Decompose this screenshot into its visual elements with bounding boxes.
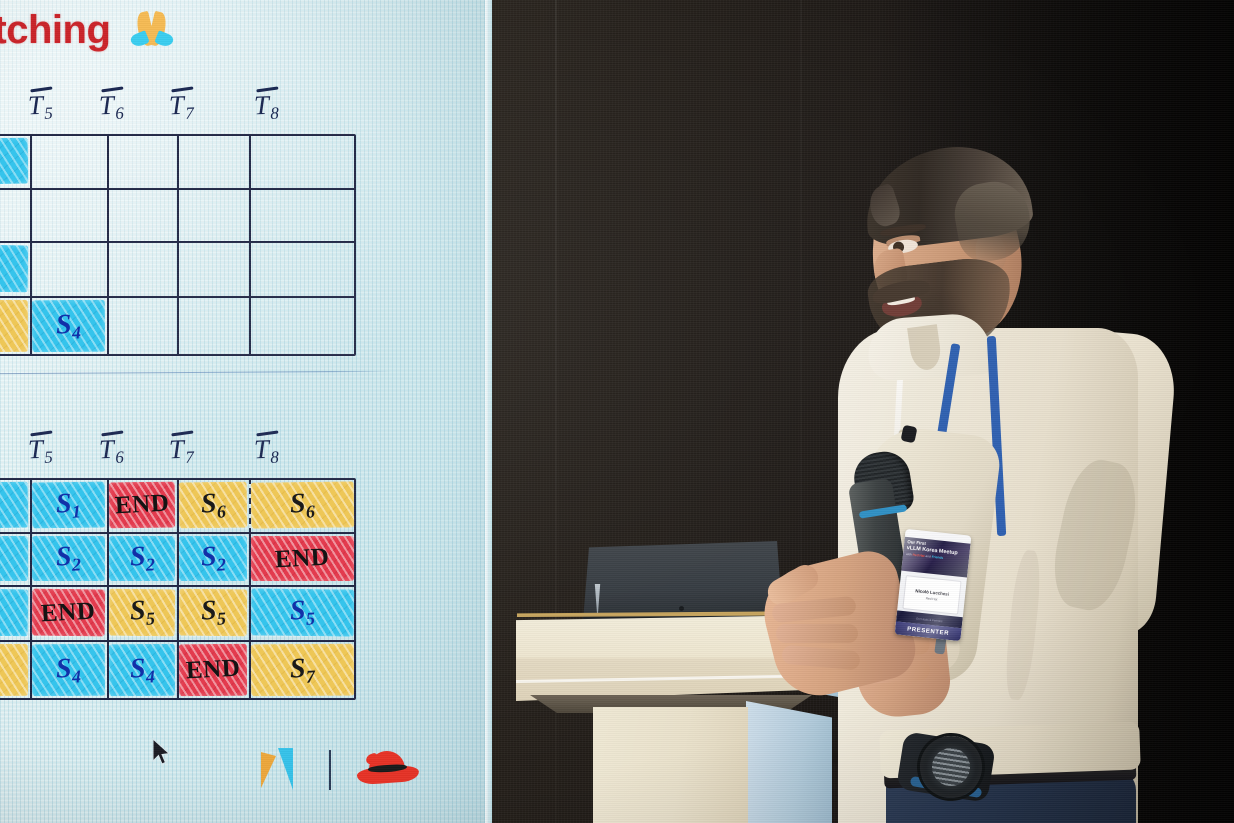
lower-cell-T7-r2[interactable]: S2 — [177, 532, 249, 585]
lower-cell-T8-r3[interactable]: S5 — [249, 585, 356, 640]
lower-cell-label: END — [185, 655, 241, 686]
lower-cell-T4-r1[interactable]: S1 — [0, 478, 30, 532]
blue-marker-fill — [0, 536, 28, 581]
lower-cell-T5-r2[interactable]: S2 — [30, 532, 107, 585]
badge-name: Nicolò Lucchesi — [915, 588, 949, 596]
lower-cell-T8-r2[interactable]: END — [249, 532, 356, 585]
laptop-hinge-dot — [679, 606, 684, 611]
lower-cell-T8-r4[interactable]: S7 — [249, 640, 356, 700]
lower-cell-T5-r3[interactable]: END — [30, 585, 107, 640]
badge-sponsors-label: Our Hosts & Partners — [916, 616, 943, 623]
lower-cell-T6-r4[interactable]: S4 — [107, 640, 177, 700]
podium-stem — [593, 707, 748, 823]
yellow-marker-fill — [0, 644, 28, 696]
badge-name-card: Nicolò Lucchesi Red Hat — [902, 575, 961, 615]
upper-cell-T4-r4[interactable]: S4 — [0, 296, 30, 356]
upper-cell-T4-r1[interactable]: S1 — [0, 134, 30, 188]
lower-cell-label: END — [41, 597, 97, 628]
lower-cell-label: S5 — [200, 594, 226, 630]
blue-marker-fill — [0, 589, 28, 637]
yellow-marker-fill — [0, 300, 28, 352]
blue-marker-fill — [0, 138, 28, 185]
lower-cell-label: END — [114, 490, 170, 521]
lower-cell-T6-r3[interactable]: S5 — [107, 585, 177, 640]
screen-right-edge — [485, 0, 492, 823]
lower-cell-label: S5 — [129, 594, 155, 630]
lower-cell-label: S5 — [289, 594, 315, 630]
presenter-badge[interactable]: Our First vLLM Korea Meetup with Red Hat… — [895, 529, 972, 641]
lower-cell-T4-r4[interactable]: S4 — [0, 640, 30, 700]
lower-cell-T7-r3[interactable]: S5 — [177, 585, 249, 640]
lower-cell-label: S2 — [200, 540, 226, 576]
watch-dial — [929, 745, 972, 788]
upper-cell-T5-r4[interactable]: S4 — [30, 296, 107, 356]
lower-cell-label: END — [275, 543, 331, 574]
blue-marker-fill — [0, 245, 28, 293]
lower-cell-T8-r1[interactable]: S6 — [249, 478, 356, 532]
blue-marker-fill — [0, 482, 28, 529]
badge-header: Our First vLLM Korea Meetup with Red Hat… — [901, 537, 970, 578]
lower-cell-T5-r4[interactable]: S4 — [30, 640, 107, 700]
finger — [776, 624, 858, 643]
lower-cell-T4-r3[interactable]: S3 — [0, 585, 30, 640]
lower-cell-label: S4 — [129, 652, 155, 688]
lower-cell-T5-r1[interactable]: S1 — [30, 478, 107, 532]
lower-cell-label: S2 — [55, 540, 81, 576]
lower-cell-T7-r1[interactable]: S6 — [177, 478, 249, 532]
screenshot-stage: ative Batching T4 T5 T6 T7 T8 S1S3S4S4 — [0, 0, 1234, 823]
lower-cell-T4-r2[interactable]: S2 — [0, 532, 30, 585]
lower-cell-T7-r4[interactable]: END — [177, 640, 249, 700]
upper-cell-T4-r3[interactable]: S3 — [0, 241, 30, 296]
laptop-lid[interactable] — [583, 541, 783, 621]
lower-cell-label: S1 — [55, 487, 81, 523]
lower-cell-label: S2 — [129, 540, 155, 576]
lower-cell-label: S7 — [289, 652, 315, 688]
lower-cell-T6-r2[interactable]: S2 — [107, 532, 177, 585]
badge-organization: Red Hat — [926, 596, 938, 601]
screen-vignette — [0, 0, 492, 823]
projection-screen[interactable]: ative Batching T4 T5 T6 T7 T8 S1S3S4S4 — [0, 0, 492, 823]
presenter: Our First vLLM Korea Meetup with Red Hat… — [760, 130, 1230, 823]
lower-cell-label: S4 — [55, 652, 81, 688]
upper-cell-label: S4 — [55, 308, 81, 344]
lower-cell-label: S6 — [200, 487, 226, 523]
lower-cell-T6-r1[interactable]: END — [107, 478, 177, 532]
lower-cell-label: S6 — [289, 487, 315, 523]
